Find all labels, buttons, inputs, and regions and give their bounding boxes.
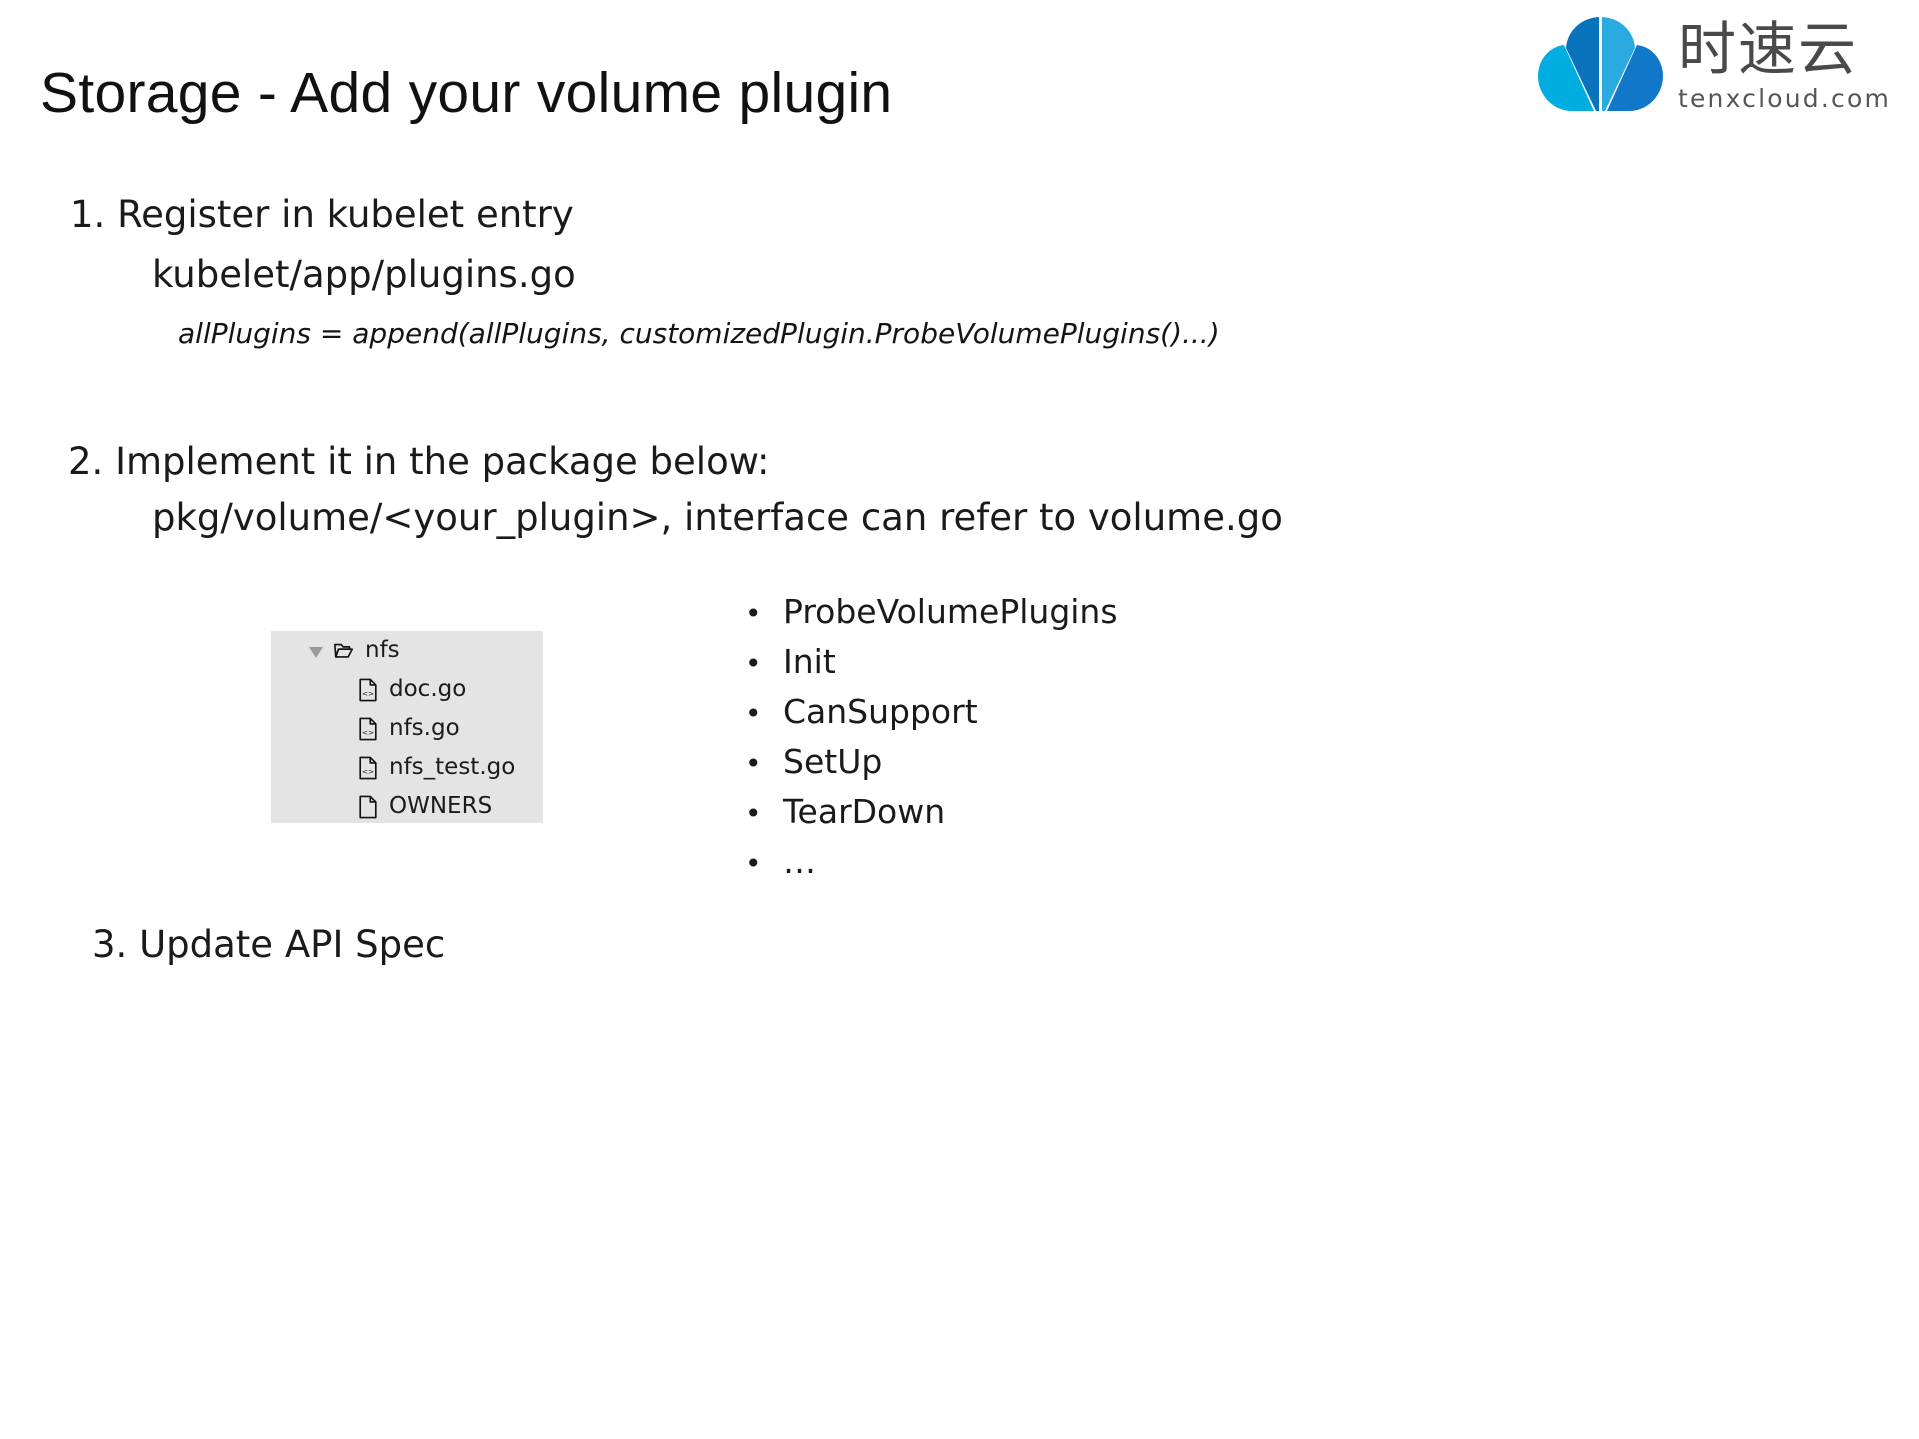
list-item-label: Init [783,642,836,681]
step-1-label: 1. Register in kubelet entry [70,193,574,236]
list-item-label: … [783,842,816,881]
caret-down-icon[interactable] [305,641,327,661]
api-method-list: • ProbeVolumePlugins • Init • CanSupport… [745,592,1118,892]
brand-logo: 时速云 tenxcloud.com [1536,14,1891,118]
list-item-label: ProbeVolumePlugins [783,592,1118,631]
svg-text:<>: <> [362,688,374,697]
brand-domain: tenxcloud.com [1678,84,1891,113]
list-item: • Init [745,642,1118,692]
bullet-icon: • [745,750,783,778]
tree-root-label: nfs [365,639,400,662]
bullet-icon: • [745,850,783,878]
bullet-icon: • [745,600,783,628]
list-item-label: SetUp [783,742,882,781]
list-item: • SetUp [745,742,1118,792]
step-2-label: 2. Implement it in the package below: [68,440,769,483]
brand-wordmark: 时速云 tenxcloud.com [1678,20,1891,113]
bullet-icon: • [745,800,783,828]
list-item-label: TearDown [783,792,945,831]
step-1-path: kubelet/app/plugins.go [152,253,576,296]
list-item: • CanSupport [745,692,1118,742]
cloud-fan-logo-icon [1536,14,1664,118]
tree-file-label: doc.go [389,678,466,701]
tree-row-root[interactable]: nfs [271,631,543,670]
tree-file-label: nfs_test.go [389,756,515,779]
tree-file-label: OWNERS [389,795,492,818]
tree-row-file[interactable]: <> nfs_test.go [271,748,543,787]
list-item: • … [745,842,1118,892]
step-2-path: pkg/volume/<your_plugin>, interface can … [152,496,1283,539]
tree-row-file[interactable]: <> doc.go [271,670,543,709]
list-item: • TearDown [745,792,1118,842]
plain-file-icon [357,795,379,819]
page-title: Storage - Add your volume plugin [40,60,892,126]
code-file-icon: <> [357,717,379,741]
tree-file-label: nfs.go [389,717,460,740]
folder-open-icon [333,639,355,663]
list-item-label: CanSupport [783,692,978,731]
step-1-code-snippet: allPlugins = append(allPlugins, customiz… [178,317,1220,350]
slide-canvas: 时速云 tenxcloud.com Storage - Add your vol… [0,0,1919,1439]
bullet-icon: • [745,700,783,728]
brand-name-cn: 时速云 [1678,20,1858,78]
list-item: • ProbeVolumePlugins [745,592,1118,642]
bullet-icon: • [745,650,783,678]
svg-text:<>: <> [362,766,374,775]
step-3-label: 3. Update API Spec [92,923,445,966]
tree-row-file[interactable]: <> nfs.go [271,709,543,748]
svg-text:<>: <> [362,727,374,736]
code-file-icon: <> [357,756,379,780]
tree-row-file[interactable]: OWNERS [271,787,543,826]
code-file-icon: <> [357,678,379,702]
file-tree-panel[interactable]: nfs <> doc.go <> nfs.go <> nf [271,631,543,823]
